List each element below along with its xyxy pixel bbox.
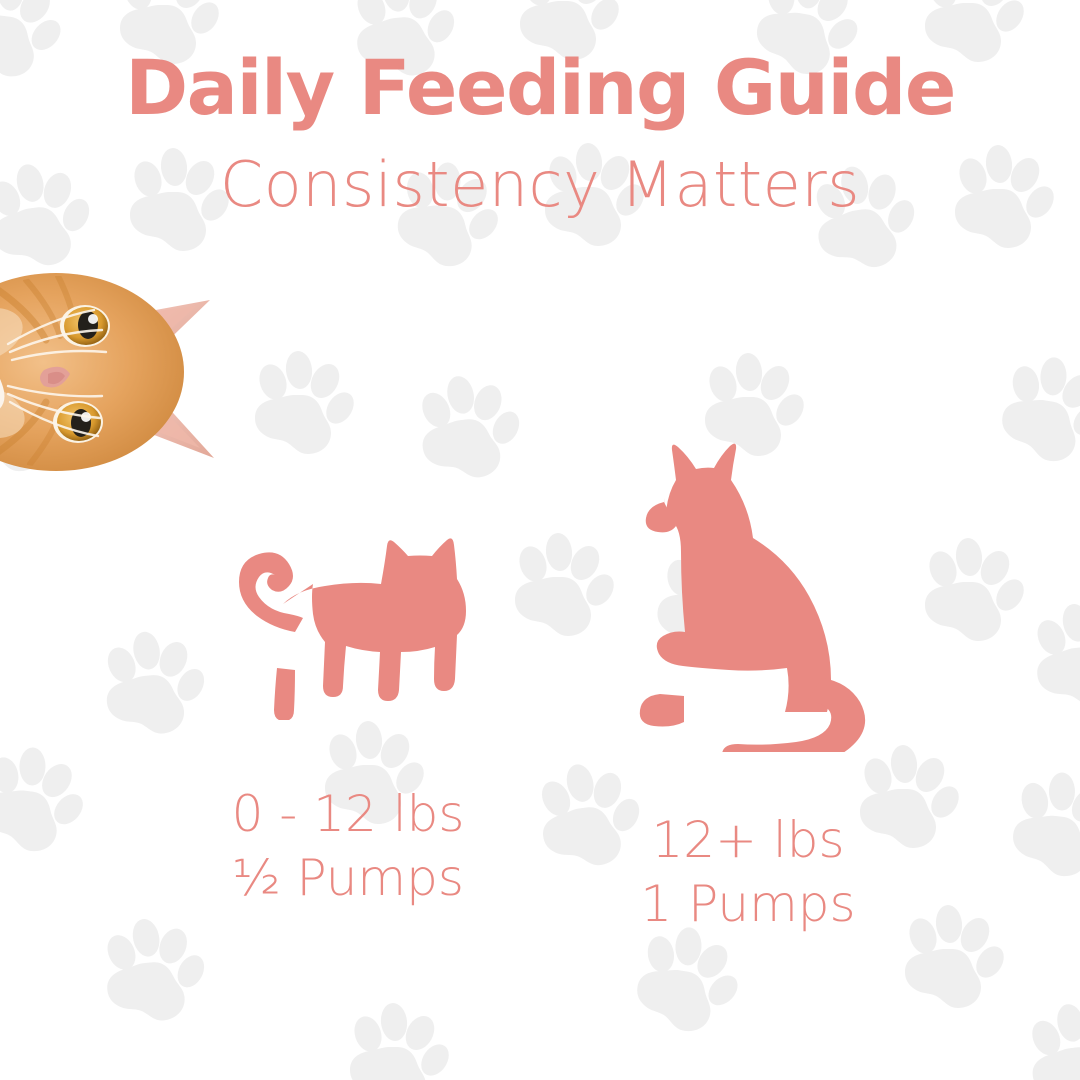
tier-large-weight: 12+ lbs [583,808,913,872]
page-subtitle: Consistency Matters [0,151,1080,219]
feeding-tier-small: 0 - 12 lbs ½ Pumps [183,520,513,910]
header-block: Daily Feeding Guide Consistency Matters [0,48,1080,219]
upside-down-orange-tabby-cat-photo [0,252,238,492]
tier-small-weight: 0 - 12 lbs [183,782,513,846]
page-title: Daily Feeding Guide [0,48,1080,129]
tier-large-dose: 1 Pumps [583,872,913,936]
tier-small-labels: 0 - 12 lbs ½ Pumps [183,782,513,910]
sitting-cat-silhouette [626,440,870,752]
tier-small-dose: ½ Pumps [183,846,513,910]
standing-cat-silhouette [223,520,473,720]
tier-large-labels: 12+ lbs 1 Pumps [583,808,913,936]
feeding-guide-poster: Daily Feeding Guide Consistency Matters [0,0,1080,1080]
feeding-tier-large: 12+ lbs 1 Pumps [583,440,913,936]
